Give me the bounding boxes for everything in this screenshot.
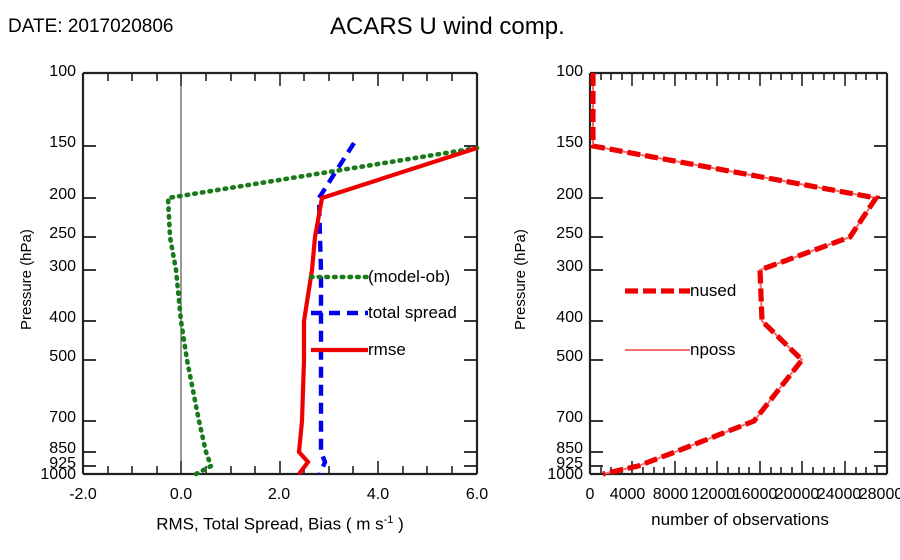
legend-label-nused: nused	[690, 281, 736, 301]
right-plot-area	[0, 0, 900, 560]
series-nused-line	[593, 73, 876, 474]
series-nposs-line	[593, 73, 876, 474]
right-chart-panel: Pressure (hPa) 100 150 200 250 300 400 5…	[0, 0, 900, 560]
legend-label-nposs: nposs	[690, 340, 735, 360]
